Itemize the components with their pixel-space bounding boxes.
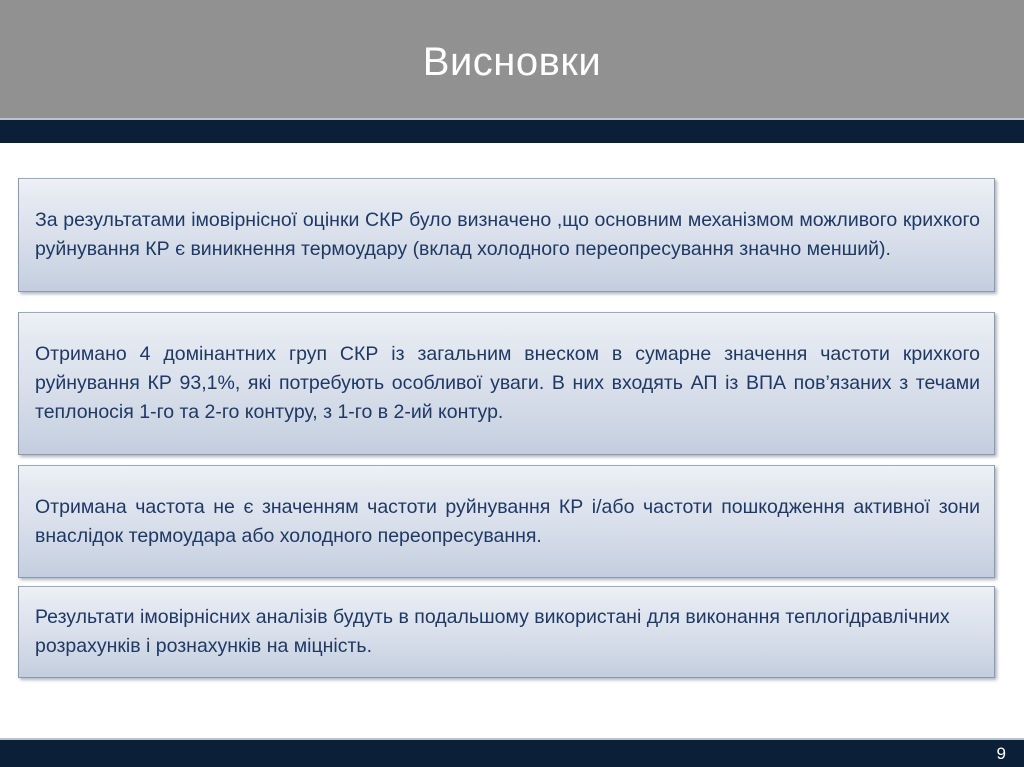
slide-title-band: Висновки bbox=[0, 0, 1024, 118]
footer-accent-bar bbox=[0, 740, 1024, 767]
slide-root: Висновки За результатами імовірнісної оц… bbox=[0, 0, 1024, 767]
conclusion-box-2: Отримано 4 домінантних груп СКР із загал… bbox=[18, 312, 995, 455]
conclusion-box-3: Отримана частота не є значенням частоти … bbox=[18, 465, 995, 578]
page-number: 9 bbox=[997, 740, 1006, 767]
conclusion-box-4: Результати імовірнісних аналізів будуть … bbox=[18, 586, 995, 678]
conclusion-box-1: За результатами імовірнісної оцінки СКР … bbox=[18, 178, 995, 292]
conclusion-text-3: Отримана частота не є значенням частоти … bbox=[35, 493, 980, 551]
title-accent-bar bbox=[0, 120, 1024, 143]
page-title: Висновки bbox=[423, 42, 601, 82]
slide-content: За результатами імовірнісної оцінки СКР … bbox=[0, 143, 1024, 740]
conclusion-text-1: За результатами імовірнісної оцінки СКР … bbox=[35, 206, 980, 264]
conclusion-text-4: Результати імовірнісних аналізів будуть … bbox=[35, 603, 980, 661]
conclusion-text-2: Отримано 4 домінантних груп СКР із загал… bbox=[35, 340, 980, 427]
